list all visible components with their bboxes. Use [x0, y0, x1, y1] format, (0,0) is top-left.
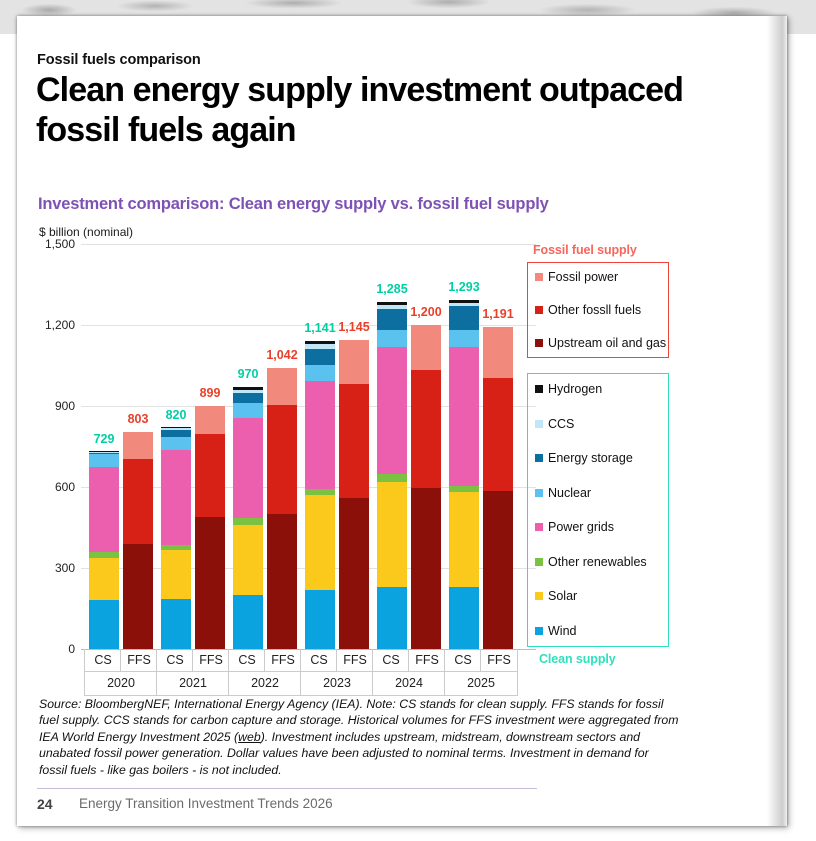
legend-item-other-renewables[interactable]: Other renewables [535, 555, 647, 569]
bar-group-2024: 1,2851,200 [374, 244, 446, 649]
bar-2022-FFS[interactable] [267, 368, 297, 649]
legend-title-clean: Clean supply [539, 652, 616, 666]
x-axis-label-2022-FFS: FFS [264, 649, 301, 672]
x-axis-year-2022: 2022 [228, 671, 301, 696]
legend-swatch-icon [535, 273, 543, 281]
legend-clean: HydrogenCCSEnergy storageNuclearPower gr… [527, 373, 669, 647]
bar-2024-FFS[interactable] [411, 325, 441, 649]
bar-segment-upstream-oil-and-gas [483, 491, 513, 649]
legend-item-label: Fossil power [548, 270, 618, 284]
paper-sheet: Fossil fuels comparison Clean energy sup… [17, 16, 787, 826]
bar-segment-upstream-oil-and-gas [339, 498, 369, 649]
legend-item-label: Hydrogen [548, 382, 602, 396]
x-axis-label-2024-FFS: FFS [408, 649, 445, 672]
bar-segment-other-fossll-fuels [195, 434, 225, 516]
bar-2022-CS[interactable] [233, 387, 263, 649]
bar-2020-CS[interactable] [89, 452, 119, 649]
bar-segment-fossil-power [339, 340, 369, 385]
legend-item-fossil-power[interactable]: Fossil power [535, 270, 618, 284]
bar-segment-power-grids [377, 347, 407, 474]
x-axis-label-2021-FFS: FFS [192, 649, 229, 672]
bar-segment-fossil-power [411, 325, 441, 370]
legend-swatch-icon [535, 592, 543, 600]
bar-segment-wind [449, 587, 479, 649]
bar-group-2022: 9701,042 [230, 244, 302, 649]
bar-segment-other-fossll-fuels [339, 384, 369, 497]
bar-2021-CS[interactable] [161, 428, 191, 649]
bar-segment-other-renewables [449, 486, 479, 493]
bar-value-label-2025-CS: 1,293 [435, 280, 493, 294]
bar-segment-other-fossll-fuels [123, 459, 153, 544]
bar-2024-CS[interactable] [377, 302, 407, 649]
bar-group-2020: 729803 [86, 244, 158, 649]
legend-swatch-icon [535, 627, 543, 635]
bar-segment-other-renewables [89, 552, 119, 558]
bar-value-label-2025-FFS: 1,191 [469, 307, 527, 321]
page-title: Clean energy supply investment outpaced … [36, 70, 736, 150]
legend-item-power-grids[interactable]: Power grids [535, 520, 614, 534]
footer-title: Energy Transition Investment Trends 2026 [79, 796, 333, 811]
chart-x-axis: CSFFS2020CSFFS2021CSFFS2022CSFFS2023CSFF… [84, 649, 519, 695]
legend-swatch-icon [535, 420, 543, 428]
bar-segment-fossil-power [483, 327, 513, 377]
legend-item-label: CCS [548, 417, 574, 431]
x-axis-label-2020-FFS: FFS [120, 649, 157, 672]
legend-item-label: Other renewables [548, 555, 647, 569]
bar-segment-wind [305, 590, 335, 649]
y-axis-tick-label: 300 [39, 561, 75, 575]
bar-segment-wind [89, 600, 119, 649]
bar-segment-energy-storage [305, 349, 335, 366]
x-axis-year-2023: 2023 [300, 671, 373, 696]
bar-segment-ccs [233, 390, 263, 393]
bar-segment-nuclear [449, 330, 479, 347]
bar-segment-nuclear [305, 365, 335, 381]
bar-2021-FFS[interactable] [195, 406, 225, 649]
legend-item-energy-storage[interactable]: Energy storage [535, 451, 633, 465]
page-canvas: Fossil fuels comparison Clean energy sup… [0, 0, 816, 841]
chart-bars: 7298038208999701,0421,1411,1451,2851,200… [84, 244, 534, 649]
bar-segment-fossil-power [195, 406, 225, 434]
bar-2025-CS[interactable] [449, 300, 479, 649]
bar-segment-solar [233, 525, 263, 595]
legend-item-nuclear[interactable]: Nuclear [535, 486, 591, 500]
chart-plot-area: 03006009001,2001,500 7298038208999701,04… [39, 244, 519, 664]
bar-segment-other-renewables [377, 474, 407, 482]
x-axis-year-2024: 2024 [372, 671, 445, 696]
bar-2023-FFS[interactable] [339, 340, 369, 649]
bar-2023-CS[interactable] [305, 341, 335, 649]
x-axis-label-2025-FFS: FFS [480, 649, 518, 672]
bar-segment-power-grids [161, 450, 191, 545]
bar-segment-hydrogen [161, 427, 191, 428]
bar-segment-ccs [161, 428, 191, 429]
y-axis-tick-label: 600 [39, 480, 75, 494]
bar-segment-other-fossll-fuels [411, 370, 441, 489]
legend-item-other-fossll-fuels[interactable]: Other fossll fuels [535, 303, 641, 317]
legend-title-fossil: Fossil fuel supply [533, 243, 637, 257]
x-axis-label-2023-CS: CS [300, 649, 337, 672]
bar-segment-wind [233, 595, 263, 649]
x-axis-label-2024-CS: CS [372, 649, 409, 672]
legend-item-solar[interactable]: Solar [535, 589, 577, 603]
legend-item-wind[interactable]: Wind [535, 624, 576, 638]
legend-item-label: Other fossll fuels [548, 303, 641, 317]
page-number: 24 [37, 796, 53, 812]
bar-segment-wind [377, 587, 407, 649]
bar-segment-other-fossll-fuels [267, 405, 297, 514]
bar-segment-solar [377, 482, 407, 588]
bar-segment-hydrogen [89, 451, 119, 452]
y-axis-tick-label: 900 [39, 399, 75, 413]
legend-item-label: Solar [548, 589, 577, 603]
torn-edge-mask-right [769, 16, 787, 826]
legend-swatch-icon [535, 385, 543, 393]
bar-segment-other-fossll-fuels [483, 378, 513, 491]
legend-item-ccs[interactable]: CCS [535, 417, 574, 431]
bar-segment-upstream-oil-and-gas [123, 544, 153, 649]
bar-segment-power-grids [449, 347, 479, 485]
y-axis-tick-label: 1,200 [39, 318, 75, 332]
legend-item-label: Power grids [548, 520, 614, 534]
bar-segment-fossil-power [123, 432, 153, 458]
legend-item-label: Nuclear [548, 486, 591, 500]
y-axis-tick-label: 0 [39, 642, 75, 656]
bar-segment-nuclear [89, 454, 119, 467]
bar-2020-FFS[interactable] [123, 432, 153, 649]
x-axis-year-2025: 2025 [444, 671, 518, 696]
legend-swatch-icon [535, 306, 543, 314]
bar-segment-other-renewables [305, 489, 335, 495]
bar-segment-solar [449, 492, 479, 587]
bar-segment-upstream-oil-and-gas [411, 488, 441, 649]
source-note: Source: BloombergNEF, International Ener… [39, 696, 679, 778]
bar-segment-energy-storage [233, 393, 263, 404]
legend-swatch-icon [535, 339, 543, 347]
legend-item-label: Wind [548, 624, 576, 638]
bar-segment-fossil-power [267, 368, 297, 405]
legend-item-upstream-oil-and-gas[interactable]: Upstream oil and gas [535, 336, 666, 350]
bar-segment-power-grids [89, 467, 119, 552]
bar-segment-power-grids [305, 381, 335, 489]
bar-2025-FFS[interactable] [483, 327, 513, 649]
legend-swatch-icon [535, 558, 543, 566]
bar-segment-ccs [305, 344, 335, 348]
bar-segment-hydrogen [449, 300, 479, 303]
bar-segment-nuclear [161, 437, 191, 451]
x-axis-label-2021-CS: CS [156, 649, 193, 672]
bar-segment-nuclear [233, 403, 263, 418]
y-axis-tick-label: 1,500 [39, 237, 75, 251]
legend-swatch-icon [535, 523, 543, 531]
bar-segment-upstream-oil-and-gas [195, 517, 225, 649]
bar-segment-hydrogen [305, 341, 335, 344]
legend-swatch-icon [535, 454, 543, 462]
x-axis-year-2021: 2021 [156, 671, 229, 696]
bar-segment-energy-storage [89, 453, 119, 454]
bar-segment-ccs [449, 303, 479, 306]
x-axis-year-2020: 2020 [84, 671, 157, 696]
bar-segment-upstream-oil-and-gas [267, 514, 297, 649]
bar-value-label-2024-CS: 1,285 [363, 282, 421, 296]
legend-item-hydrogen[interactable]: Hydrogen [535, 382, 602, 396]
x-axis-label-2022-CS: CS [228, 649, 265, 672]
bar-segment-other-renewables [233, 518, 263, 525]
bar-segment-solar [89, 558, 119, 600]
legend-swatch-icon [535, 489, 543, 497]
bar-segment-hydrogen [233, 387, 263, 390]
legend-item-label: Upstream oil and gas [548, 336, 666, 350]
source-web-link[interactable]: web [238, 730, 261, 744]
x-axis-label-2025-CS: CS [444, 649, 481, 672]
bar-group-2021: 820899 [158, 244, 230, 649]
bar-segment-energy-storage [161, 430, 191, 437]
bar-segment-power-grids [233, 418, 263, 518]
bar-segment-solar [305, 495, 335, 590]
legend-fossil: Fossil powerOther fossll fuelsUpstream o… [527, 262, 669, 358]
x-axis-label-2023-FFS: FFS [336, 649, 373, 672]
bar-group-2025: 1,2931,191 [446, 244, 518, 649]
bar-segment-nuclear [377, 330, 407, 347]
footer-divider [37, 788, 537, 789]
bar-segment-other-renewables [161, 545, 191, 550]
bar-segment-solar [161, 550, 191, 599]
kicker-label: Fossil fuels comparison [37, 52, 201, 68]
slide-content: Fossil fuels comparison Clean energy sup… [17, 16, 787, 826]
bar-group-2023: 1,1411,145 [302, 244, 374, 649]
x-axis-label-2020-CS: CS [84, 649, 121, 672]
chart-subtitle: Investment comparison: Clean energy supp… [38, 195, 549, 214]
bar-segment-wind [161, 599, 191, 649]
legend-item-label: Energy storage [548, 451, 633, 465]
